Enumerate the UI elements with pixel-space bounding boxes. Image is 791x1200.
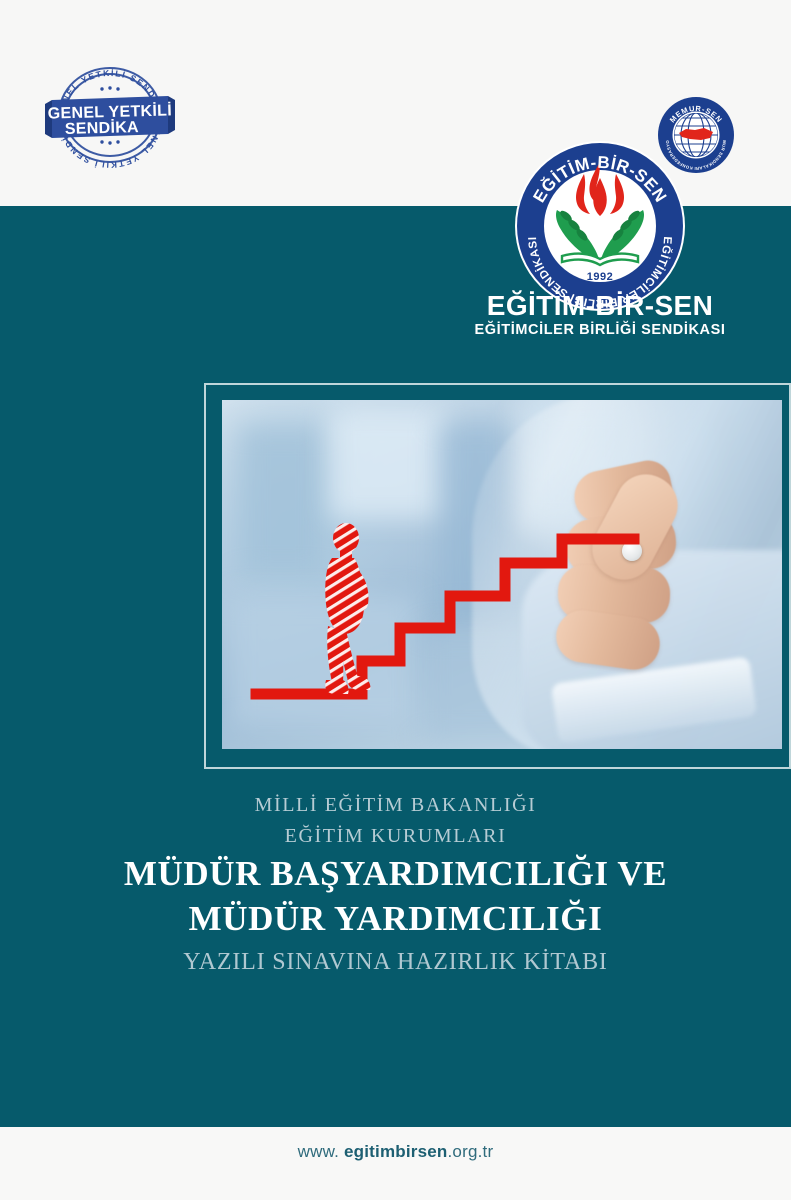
brand-wordmark: EĞİTİM-BİR-SEN EĞİTİMCİLER BİRLİĞİ SENDİ… — [460, 292, 740, 340]
title-pre-line-2: EĞİTİM KURUMLARI — [0, 821, 791, 852]
footer-website-url[interactable]: www. egitimbirsen.org.tr — [0, 1142, 791, 1162]
title-main-line-2: MÜDÜR YARDIMCILIĞI — [0, 897, 791, 942]
wordmark-sub-text: EĞİTİMCİLER BİRLİĞİ SENDİKASI — [460, 321, 740, 341]
red-staircase-graphic — [222, 400, 782, 749]
cover-title-block: MİLLİ EĞİTİM BAKANLIĞI EĞİTİM KURUMLARI … — [0, 790, 791, 980]
egitim-bir-sen-logo-icon: 1992 EĞİTİM-BİR-SEN EĞİTİMCİLER BİRLİĞİ … — [514, 140, 686, 312]
businessman-drawing-red-staircase-photo — [222, 400, 782, 749]
title-pre-line-1: MİLLİ EĞİTİM BAKANLIĞI — [0, 790, 791, 821]
stamp-badge-icon: GENEL YETKİLİ SENDİKA GENEL YETKİLİ SEND… — [44, 62, 176, 168]
bottom-white-band — [0, 1127, 791, 1200]
title-main-line-1: MÜDÜR BAŞYARDIMCILIĞI VE — [0, 852, 791, 897]
footer-url-suffix: .org.tr — [448, 1142, 494, 1161]
book-cover: GENEL YETKİLİ SENDİKA GENEL YETKİLİ SEND… — [0, 0, 791, 1200]
footer-url-brand: egitimbirsen — [344, 1142, 447, 1161]
svg-text:1992: 1992 — [587, 271, 613, 283]
climbing-figure-graphic — [312, 522, 387, 707]
footer-url-prefix: www. — [298, 1142, 344, 1161]
wordmark-main-text: EĞİTİM-BİR-SEN — [460, 292, 740, 321]
title-sub-line: YAZILI SINAVINA HAZIRLIK KİTABI — [0, 944, 791, 980]
svg-text:SENDİKA: SENDİKA — [65, 118, 140, 138]
